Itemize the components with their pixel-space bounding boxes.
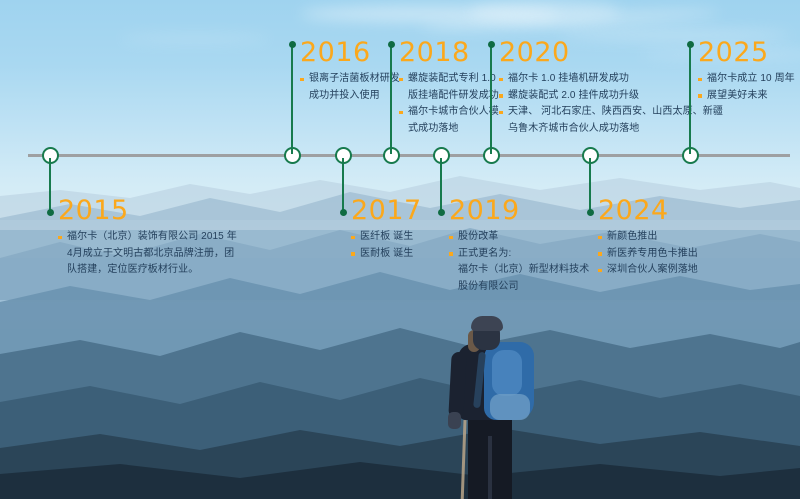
backpack-lower-panel xyxy=(490,394,530,420)
timeline-bullet: 医耐板 诞生 xyxy=(351,247,422,262)
timeline-infographic: 2015福尔卡（北京）装饰有限公司 2015 年4月成立于文明古都北京品牌注册，… xyxy=(0,0,800,499)
timeline-bullet: 式成功落地 xyxy=(399,122,499,137)
timeline-bullet-list-2019: 股份改革正式更名为:福尔卡（北京）新型材料技术股份有限公司 xyxy=(449,230,589,294)
timeline-axis xyxy=(28,154,790,157)
timeline-bullet-list-2017: 医纤板 诞生医耐板 诞生 xyxy=(351,230,422,261)
cloud-wisp xyxy=(120,34,270,43)
timeline-bullet: 福尔卡（北京）新型材料技术 xyxy=(449,263,589,278)
timeline-entry-2024: 2024新颜色推出新医养专用色卡推出深圳合伙人案例落地 xyxy=(598,196,698,280)
timeline-year-2019: 2019 xyxy=(449,196,589,226)
timeline-bullet: 福尔卡成立 10 周年 xyxy=(698,72,795,87)
timeline-stem-dot-2018 xyxy=(388,41,395,48)
timeline-bullet: 成功并投入使用 xyxy=(300,89,400,104)
timeline-entry-2017: 2017医纤板 诞生医耐板 诞生 xyxy=(351,196,422,263)
timeline-bullet: 4月成立于文明古都北京品牌注册，团 xyxy=(58,247,237,262)
hiker-figure xyxy=(432,308,552,499)
timeline-entry-2016: 2016银离子洁菌板材研发成功并投入使用 xyxy=(300,38,400,105)
timeline-stem-2015 xyxy=(49,158,52,212)
cloud-wisp xyxy=(470,0,620,22)
timeline-bullet-list-2018: 螺旋装配式专利 1.0版挂墙配件研发成功福尔卡城市合伙人模式成功落地 xyxy=(399,72,499,136)
backpack-panel xyxy=(492,350,522,396)
timeline-stem-2016 xyxy=(291,44,294,154)
timeline-stem-dot-2015 xyxy=(47,209,54,216)
hiker-hand xyxy=(448,412,461,429)
timeline-year-2017: 2017 xyxy=(351,196,422,226)
timeline-year-2024: 2024 xyxy=(598,196,698,226)
timeline-year-2018: 2018 xyxy=(399,38,499,68)
timeline-stem-dot-2020 xyxy=(488,41,495,48)
hiker-leg-gap xyxy=(488,436,492,499)
timeline-bullet-list-2016: 银离子洁菌板材研发成功并投入使用 xyxy=(300,72,400,103)
timeline-stem-2020 xyxy=(490,44,493,154)
timeline-stem-dot-2016 xyxy=(289,41,296,48)
timeline-entry-2015: 2015福尔卡（北京）装饰有限公司 2015 年4月成立于文明古都北京品牌注册，… xyxy=(58,196,237,280)
timeline-bullet: 股份有限公司 xyxy=(449,280,589,295)
timeline-bullet: 新颜色推出 xyxy=(598,230,698,245)
timeline-year-2016: 2016 xyxy=(300,38,400,68)
timeline-bullet: 新医养专用色卡推出 xyxy=(598,247,698,262)
timeline-stem-dot-2024 xyxy=(587,209,594,216)
timeline-entry-2019: 2019股份改革正式更名为:福尔卡（北京）新型材料技术股份有限公司 xyxy=(449,196,589,296)
timeline-bullet-list-2025: 福尔卡成立 10 周年展望美好未来 xyxy=(698,72,795,103)
timeline-bullet-list-2024: 新颜色推出新医养专用色卡推出深圳合伙人案例落地 xyxy=(598,230,698,278)
timeline-stem-dot-2017 xyxy=(340,209,347,216)
timeline-bullet: 深圳合伙人案例落地 xyxy=(598,263,698,278)
timeline-bullet: 医纤板 诞生 xyxy=(351,230,422,245)
timeline-bullet: 股份改革 xyxy=(449,230,589,245)
timeline-entry-2018: 2018螺旋装配式专利 1.0版挂墙配件研发成功福尔卡城市合伙人模式成功落地 xyxy=(399,38,499,138)
timeline-bullet: 福尔卡城市合伙人模 xyxy=(399,105,499,120)
timeline-bullet: 展望美好未来 xyxy=(698,89,795,104)
timeline-bullet: 版挂墙配件研发成功 xyxy=(399,89,499,104)
timeline-stem-2024 xyxy=(589,158,592,212)
trekking-pole xyxy=(461,420,467,499)
timeline-year-2015: 2015 xyxy=(58,196,237,226)
timeline-entry-2025: 2025福尔卡成立 10 周年展望美好未来 xyxy=(698,38,795,105)
timeline-stem-dot-2019 xyxy=(438,209,445,216)
timeline-stem-dot-2025 xyxy=(687,41,694,48)
timeline-bullet-list-2015: 福尔卡（北京）装饰有限公司 2015 年4月成立于文明古都北京品牌注册，团队搭建… xyxy=(58,230,237,278)
timeline-stem-2017 xyxy=(342,158,345,212)
timeline-year-2025: 2025 xyxy=(698,38,795,68)
timeline-bullet: 福尔卡（北京）装饰有限公司 2015 年 xyxy=(58,230,237,245)
timeline-bullet: 银离子洁菌板材研发 xyxy=(300,72,400,87)
timeline-bullet: 正式更名为: xyxy=(449,247,589,262)
timeline-bullet: 队搭建，定位医疗板材行业。 xyxy=(58,263,237,278)
timeline-stem-2019 xyxy=(440,158,443,212)
timeline-stem-2025 xyxy=(689,44,692,154)
hiker-cap xyxy=(471,316,503,331)
timeline-stem-2018 xyxy=(390,44,393,154)
timeline-bullet: 螺旋装配式专利 1.0 xyxy=(399,72,499,87)
